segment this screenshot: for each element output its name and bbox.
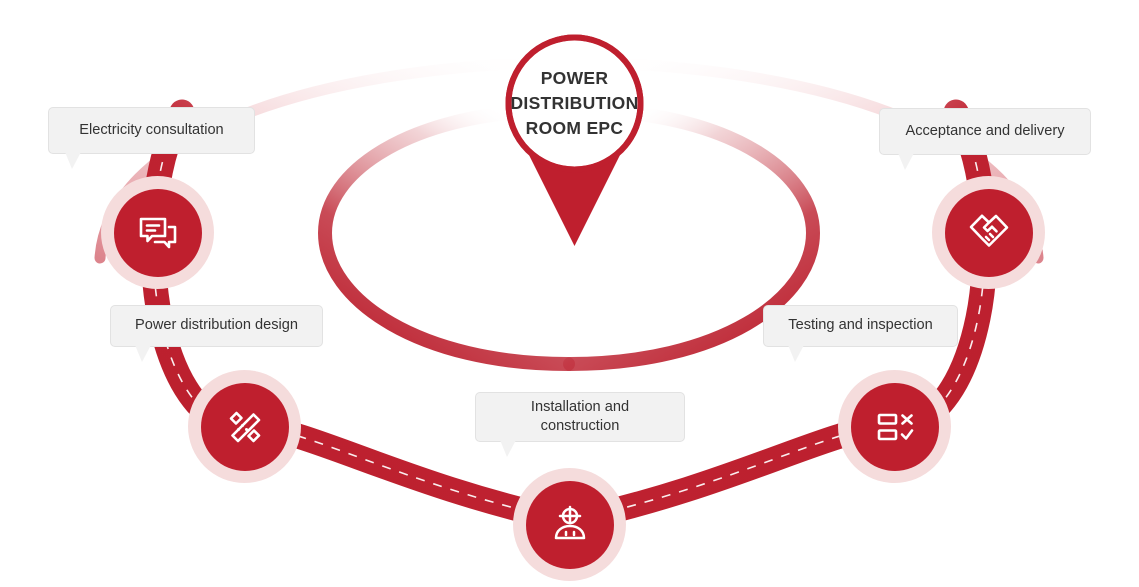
label-tail [500, 440, 516, 457]
node-installation-construction[interactable] [513, 468, 626, 581]
label-tail [898, 153, 914, 170]
worker-helmet-icon [547, 502, 593, 548]
label-tail [65, 152, 81, 169]
node-core-4 [851, 383, 939, 471]
inner-ellipse-group [325, 112, 813, 364]
label-testing-inspection[interactable]: Testing and inspection [763, 305, 958, 347]
label-tail [135, 345, 151, 362]
label-text: Acceptance and delivery [905, 122, 1064, 141]
node-power-distribution-design[interactable] [188, 370, 301, 483]
node-core-3 [526, 481, 614, 569]
label-tail [788, 345, 804, 362]
ruler-pencil-icon [222, 404, 268, 450]
label-text: Power distribution design [135, 316, 298, 335]
label-text-line-1: Installation and [531, 398, 629, 417]
label-electricity-consultation[interactable]: Electricity consultation [48, 107, 255, 154]
diagram-canvas: POWER DISTRIBUTION ROOM EPC [0, 0, 1139, 587]
node-acceptance-delivery[interactable] [932, 176, 1045, 289]
node-core-5 [945, 189, 1033, 277]
inner-ellipse-left [325, 112, 568, 364]
handshake-icon [966, 210, 1012, 256]
label-power-distribution-design[interactable]: Power distribution design [110, 305, 323, 347]
label-text-line-2: construction [541, 417, 620, 436]
node-core-2 [201, 383, 289, 471]
checklist-icon [872, 404, 918, 450]
label-installation-construction[interactable]: Installation and construction [475, 392, 685, 442]
chat-bubbles-icon [136, 211, 180, 255]
node-core-1 [114, 189, 202, 277]
label-acceptance-delivery[interactable]: Acceptance and delivery [879, 108, 1091, 155]
node-testing-inspection[interactable] [838, 370, 951, 483]
node-electricity-consultation[interactable] [101, 176, 214, 289]
label-text: Testing and inspection [788, 316, 932, 335]
label-text: Electricity consultation [79, 121, 223, 140]
